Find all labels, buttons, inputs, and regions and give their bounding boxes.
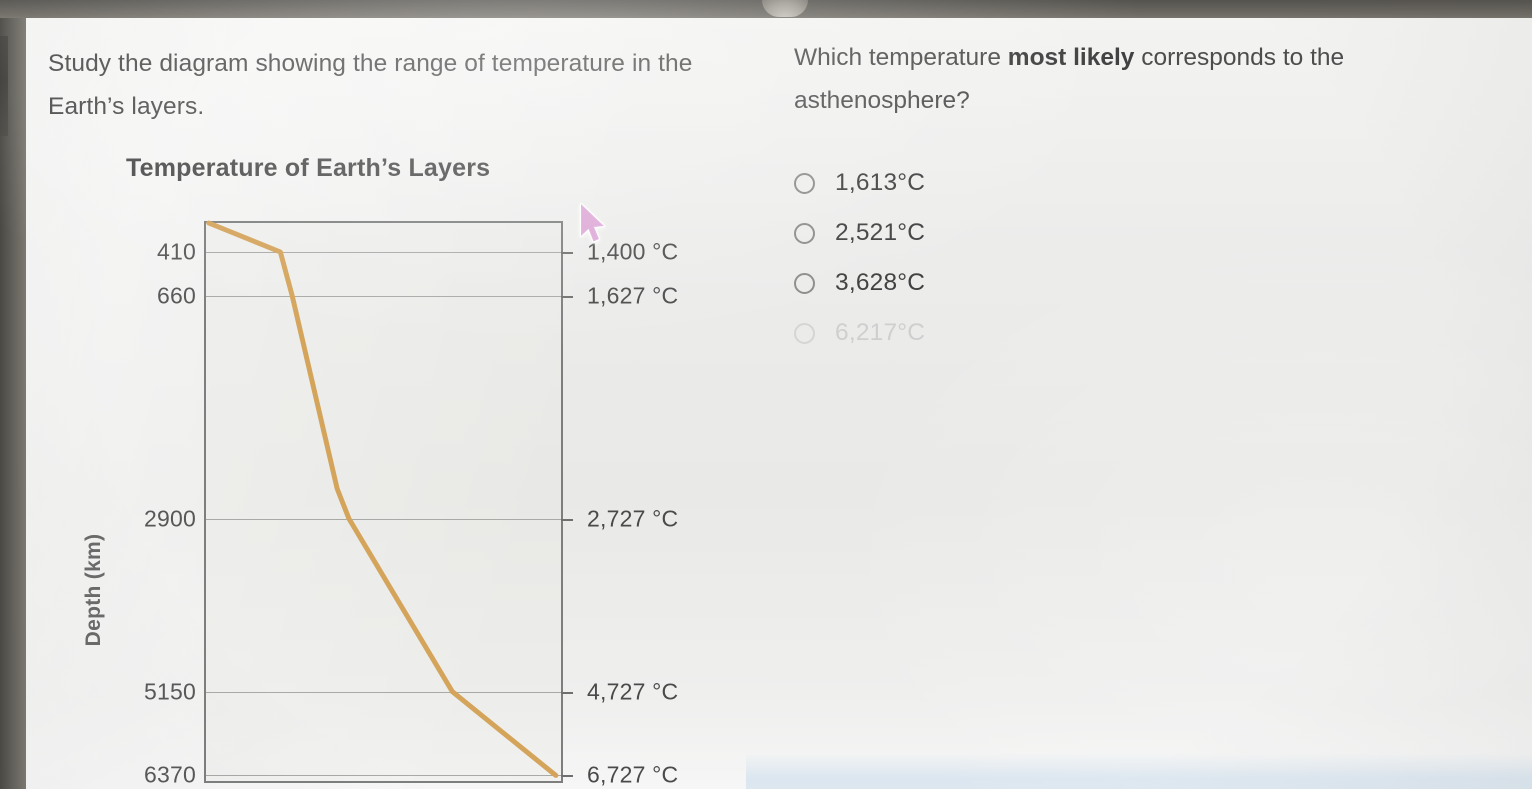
answer-option-label: 1,613°C [835,169,925,197]
answer-option-3[interactable]: 3,628°C [794,258,1494,308]
chart-tick-mark [561,296,573,298]
left-column: Study the diagram showing the range of t… [48,42,788,183]
prompt-line-1: Study the diagram showing the range of t… [48,50,625,77]
answer-option-4[interactable]: 6,217°C [794,308,1494,358]
temperature-axis-label: 6,727 °C [587,762,678,789]
temperature-axis-label: 1,627 °C [587,282,678,309]
question-text: Which temperature most likely correspond… [794,36,1474,122]
temperature-axis-label: 2,727 °C [587,505,678,532]
question-emphasis: most likely [1008,44,1135,71]
screen-photograph: Study the diagram showing the range of t… [0,0,1532,789]
answer-option-label: 3,628°C [835,269,925,297]
radio-button-icon[interactable] [794,173,815,194]
radio-button-icon[interactable] [794,223,815,244]
depth-axis-label: 5150 [144,678,196,705]
radio-button-icon[interactable] [794,323,815,344]
prompt-text: Study the diagram showing the range of t… [48,42,748,128]
depth-axis-label: 660 [157,282,196,309]
screen-reflection-blue [746,753,1532,789]
temperature-curve [206,223,561,781]
chart-tick-mark [561,519,573,521]
answer-option-label: 2,521°C [835,219,925,247]
chart-tick-mark [561,692,573,694]
temperature-axis-label: 1,400 °C [587,239,678,266]
chart-plot-area: 4101,400 °C6601,627 °C29002,727 °C51504,… [204,221,563,783]
answer-options-list: 1,613°C2,521°C3,628°C6,217°C [794,158,1494,358]
depth-axis-label: 2900 [144,505,196,532]
chart-title: Temperature of Earth’s Layers [126,154,788,183]
temperature-depth-chart: Depth (km) 4101,400 °C6601,627 °C29002,7… [48,198,748,789]
depth-axis-label: 410 [157,239,196,266]
depth-axis-label: 6370 [144,762,196,789]
chart-tick-mark [561,775,573,777]
chart-tick-mark [561,252,573,254]
temperature-axis-label: 4,727 °C [587,678,678,705]
answer-option-2[interactable]: 2,521°C [794,208,1494,258]
question-page: Study the diagram showing the range of t… [26,18,1532,789]
device-bezel-left-marking [0,36,8,136]
question-before: Which temperature [794,44,1008,71]
y-axis-title: Depth (km) [82,500,106,680]
answer-option-label: 6,217°C [835,319,925,347]
right-column: Which temperature most likely correspond… [794,36,1494,358]
radio-button-icon[interactable] [794,273,815,294]
answer-option-1[interactable]: 1,613°C [794,158,1494,208]
